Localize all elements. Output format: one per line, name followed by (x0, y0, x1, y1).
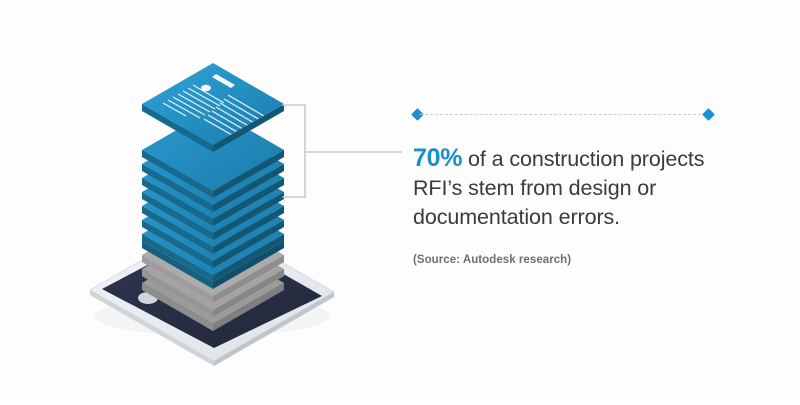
bracket-connector (280, 95, 410, 210)
bracket-svg (280, 95, 410, 210)
divider-line (420, 114, 706, 115)
source-attribution: (Source: Autodesk research) (413, 254, 743, 266)
diamond-marker-right (702, 108, 715, 121)
infographic-canvas: 70% of a construction projects RFI’s ste… (0, 0, 800, 400)
headline-text: 70% of a construction projects RFI’s ste… (413, 144, 723, 232)
callout-block: 70% of a construction projects RFI’s ste… (413, 108, 743, 277)
dashed-divider (413, 108, 713, 122)
top-document-face (142, 63, 284, 145)
stat-value: 70% (413, 144, 462, 172)
